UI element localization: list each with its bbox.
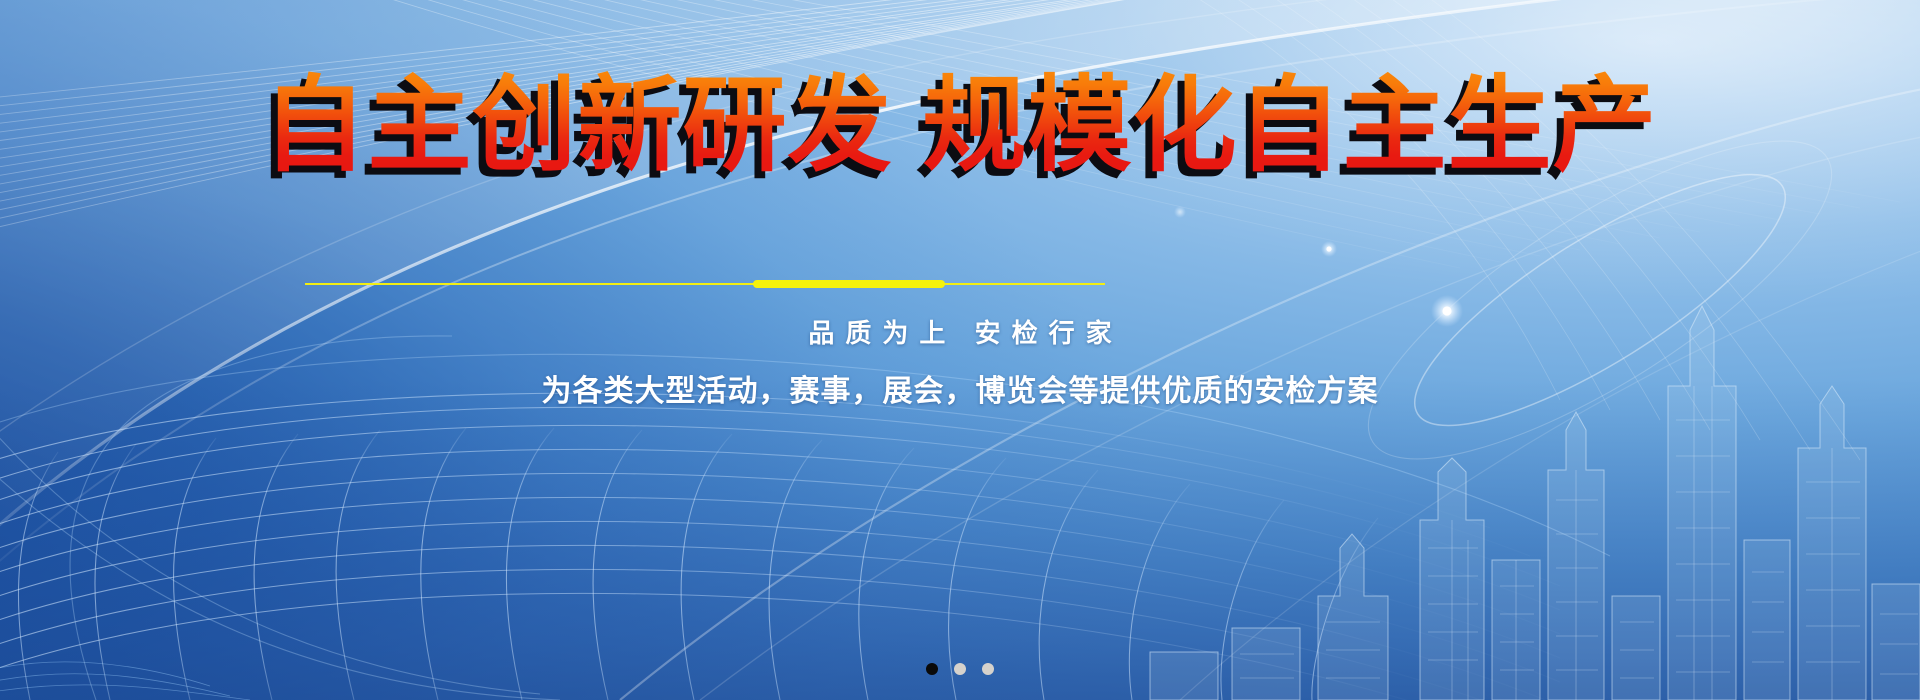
banner-subtitle-secondary: 为各类大型活动，赛事，展会，博览会等提供优质的安检方案 <box>0 366 1920 410</box>
divider-highlight-bar <box>753 280 945 288</box>
carousel-indicators[interactable] <box>0 663 1920 675</box>
divider-thin-line <box>305 283 1105 285</box>
banner-subtitle-primary: 品质为上 安检行家 <box>0 313 1920 350</box>
background-topright-glow <box>0 0 1920 700</box>
carousel-dot-2[interactable] <box>954 663 966 675</box>
yellow-divider <box>305 280 1105 288</box>
carousel-dot-3[interactable] <box>982 663 994 675</box>
carousel-dot-1[interactable] <box>926 663 938 675</box>
hero-banner: 自主创新研发 规模化自主生产 自主创新研发 规模化自主生产 品质为上 安检行家 … <box>0 0 1920 700</box>
